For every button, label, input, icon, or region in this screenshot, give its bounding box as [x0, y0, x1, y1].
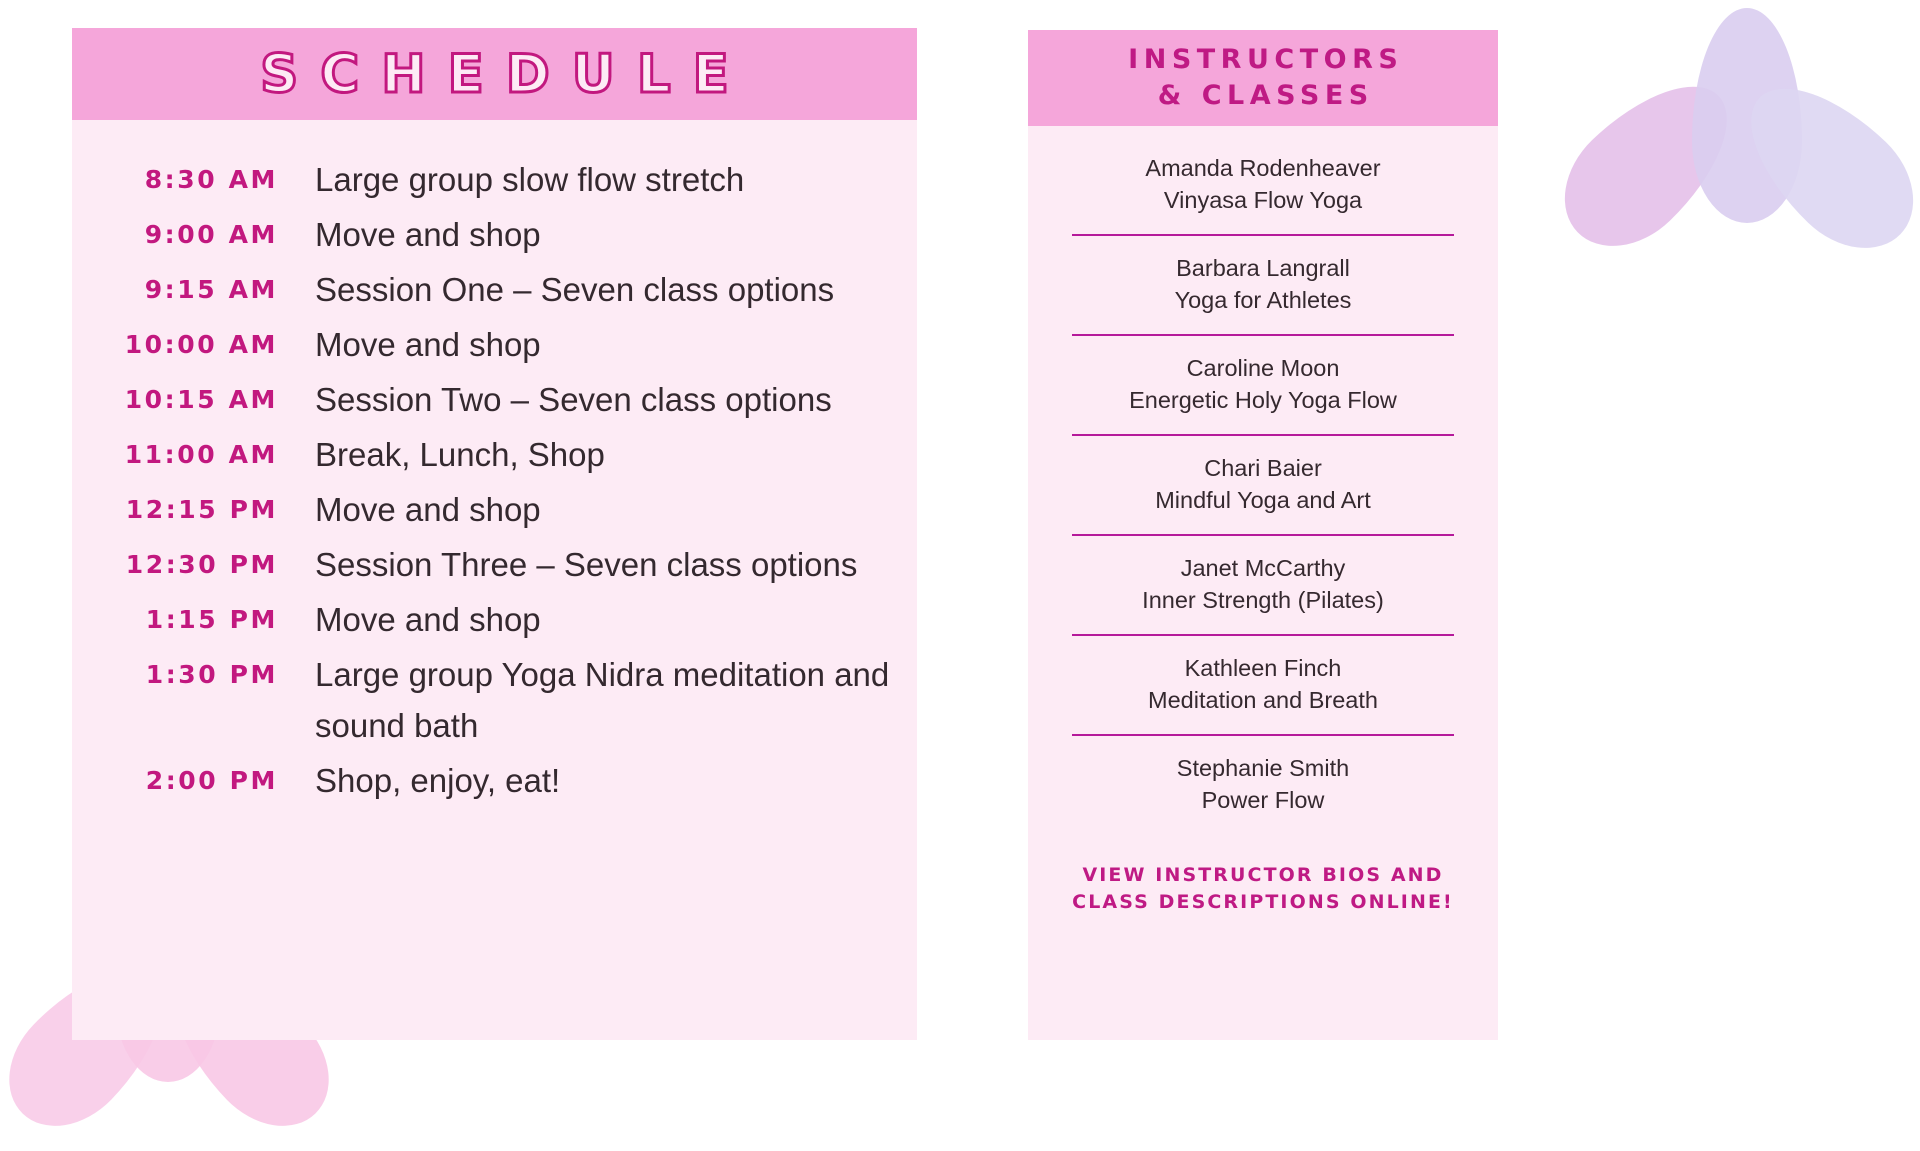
schedule-row: 12:30 PMSession Three – Seven class opti…: [72, 539, 917, 590]
schedule-row: 11:00 AMBreak, Lunch, Shop: [72, 429, 917, 480]
instructors-title-line-1: INSTRUCTORS: [1123, 42, 1404, 78]
schedule-description: Shop, enjoy, eat!: [288, 755, 560, 806]
schedule-description: Session Two – Seven class options: [288, 374, 832, 425]
schedule-time: 10:00 AM: [72, 319, 288, 370]
schedule-time: 12:15 PM: [72, 484, 288, 535]
instructor-name: Kathleen Finch: [1072, 652, 1454, 684]
petal-right-icon: [1721, 58, 1920, 275]
schedule-row: 1:15 PMMove and shop: [72, 594, 917, 645]
instructor-name: Chari Baier: [1072, 452, 1454, 484]
instructor-class: Power Flow: [1072, 784, 1454, 816]
schedule-time: 1:15 PM: [72, 594, 288, 645]
schedule-row: 1:30 PMLarge group Yoga Nidra meditation…: [72, 649, 917, 751]
instructor-name: Amanda Rodenheaver: [1072, 152, 1454, 184]
schedule-description: Move and shop: [288, 319, 541, 370]
instructor-divider: [1072, 734, 1454, 736]
instructors-panel: INSTRUCTORS & CLASSES Amanda Rodenheaver…: [1028, 30, 1498, 1040]
cta-line-2: CLASS DESCRIPTIONS ONLINE!: [1072, 889, 1454, 916]
schedule-description: Large group Yoga Nidra meditation and so…: [288, 649, 895, 751]
schedule-row: 2:00 PMShop, enjoy, eat!: [72, 755, 917, 806]
instructor-block: Amanda RodenheaverVinyasa Flow Yoga: [1072, 152, 1454, 216]
instructor-block: Kathleen FinchMeditation and Breath: [1072, 652, 1454, 716]
instructor-name: Janet McCarthy: [1072, 552, 1454, 584]
schedule-panel: SCHEDULE 8:30 AMLarge group slow flow st…: [72, 28, 917, 1040]
schedule-description: Move and shop: [288, 484, 541, 535]
instructor-class: Meditation and Breath: [1072, 684, 1454, 716]
instructor-block: Barbara LangrallYoga for Athletes: [1072, 252, 1454, 316]
schedule-time: 9:15 AM: [72, 264, 288, 315]
schedule-row: 9:15 AMSession One – Seven class options: [72, 264, 917, 315]
schedule-time: 1:30 PM: [72, 649, 288, 700]
schedule-row: 10:15 AMSession Two – Seven class option…: [72, 374, 917, 425]
schedule-row: 10:00 AMMove and shop: [72, 319, 917, 370]
schedule-description: Break, Lunch, Shop: [288, 429, 605, 480]
schedule-description: Move and shop: [288, 594, 541, 645]
schedule-header-band: SCHEDULE: [72, 28, 917, 120]
instructor-block: Caroline MoonEnergetic Holy Yoga Flow: [1072, 352, 1454, 416]
instructor-class: Inner Strength (Pilates): [1072, 584, 1454, 616]
schedule-time: 10:15 AM: [72, 374, 288, 425]
instructors-title-line-2: & CLASSES: [1152, 78, 1373, 114]
instructor-divider: [1072, 334, 1454, 336]
lotus-petals-lavender-decoration: [1586, 0, 1920, 250]
instructor-block: Stephanie SmithPower Flow: [1072, 752, 1454, 816]
instructors-list: Amanda RodenheaverVinyasa Flow YogaBarba…: [1028, 126, 1498, 916]
instructor-class: Vinyasa Flow Yoga: [1072, 184, 1454, 216]
petal-left-icon: [1539, 56, 1758, 273]
schedule-time: 9:00 AM: [72, 209, 288, 260]
instructor-name: Barbara Langrall: [1072, 252, 1454, 284]
schedule-list: 8:30 AMLarge group slow flow stretch9:00…: [72, 120, 917, 806]
schedule-description: Large group slow flow stretch: [288, 154, 744, 205]
schedule-description: Move and shop: [288, 209, 541, 260]
schedule-row: 9:00 AMMove and shop: [72, 209, 917, 260]
instructor-divider: [1072, 534, 1454, 536]
instructor-class: Yoga for Athletes: [1072, 284, 1454, 316]
schedule-time: 12:30 PM: [72, 539, 288, 590]
schedule-description: Session Three – Seven class options: [288, 539, 857, 590]
instructor-divider: [1072, 634, 1454, 636]
schedule-row: 8:30 AMLarge group slow flow stretch: [72, 154, 917, 205]
instructor-name: Caroline Moon: [1072, 352, 1454, 384]
schedule-description: Session One – Seven class options: [288, 264, 834, 315]
instructor-block: Janet McCarthyInner Strength (Pilates): [1072, 552, 1454, 616]
instructor-class: Mindful Yoga and Art: [1072, 484, 1454, 516]
instructor-class: Energetic Holy Yoga Flow: [1072, 384, 1454, 416]
petal-center-icon: [1692, 8, 1802, 223]
instructor-block: Chari BaierMindful Yoga and Art: [1072, 452, 1454, 516]
cta-line-1: VIEW INSTRUCTOR BIOS AND: [1072, 862, 1454, 889]
instructors-header-band: INSTRUCTORS & CLASSES: [1028, 30, 1498, 126]
schedule-time: 11:00 AM: [72, 429, 288, 480]
schedule-row: 12:15 PMMove and shop: [72, 484, 917, 535]
instructor-divider: [1072, 434, 1454, 436]
schedule-time: 2:00 PM: [72, 755, 288, 806]
instructor-bios-cta[interactable]: VIEW INSTRUCTOR BIOS ANDCLASS DESCRIPTIO…: [1072, 862, 1454, 916]
schedule-title: SCHEDULE: [238, 48, 751, 101]
schedule-time: 8:30 AM: [72, 154, 288, 205]
instructor-name: Stephanie Smith: [1072, 752, 1454, 784]
instructor-divider: [1072, 234, 1454, 236]
